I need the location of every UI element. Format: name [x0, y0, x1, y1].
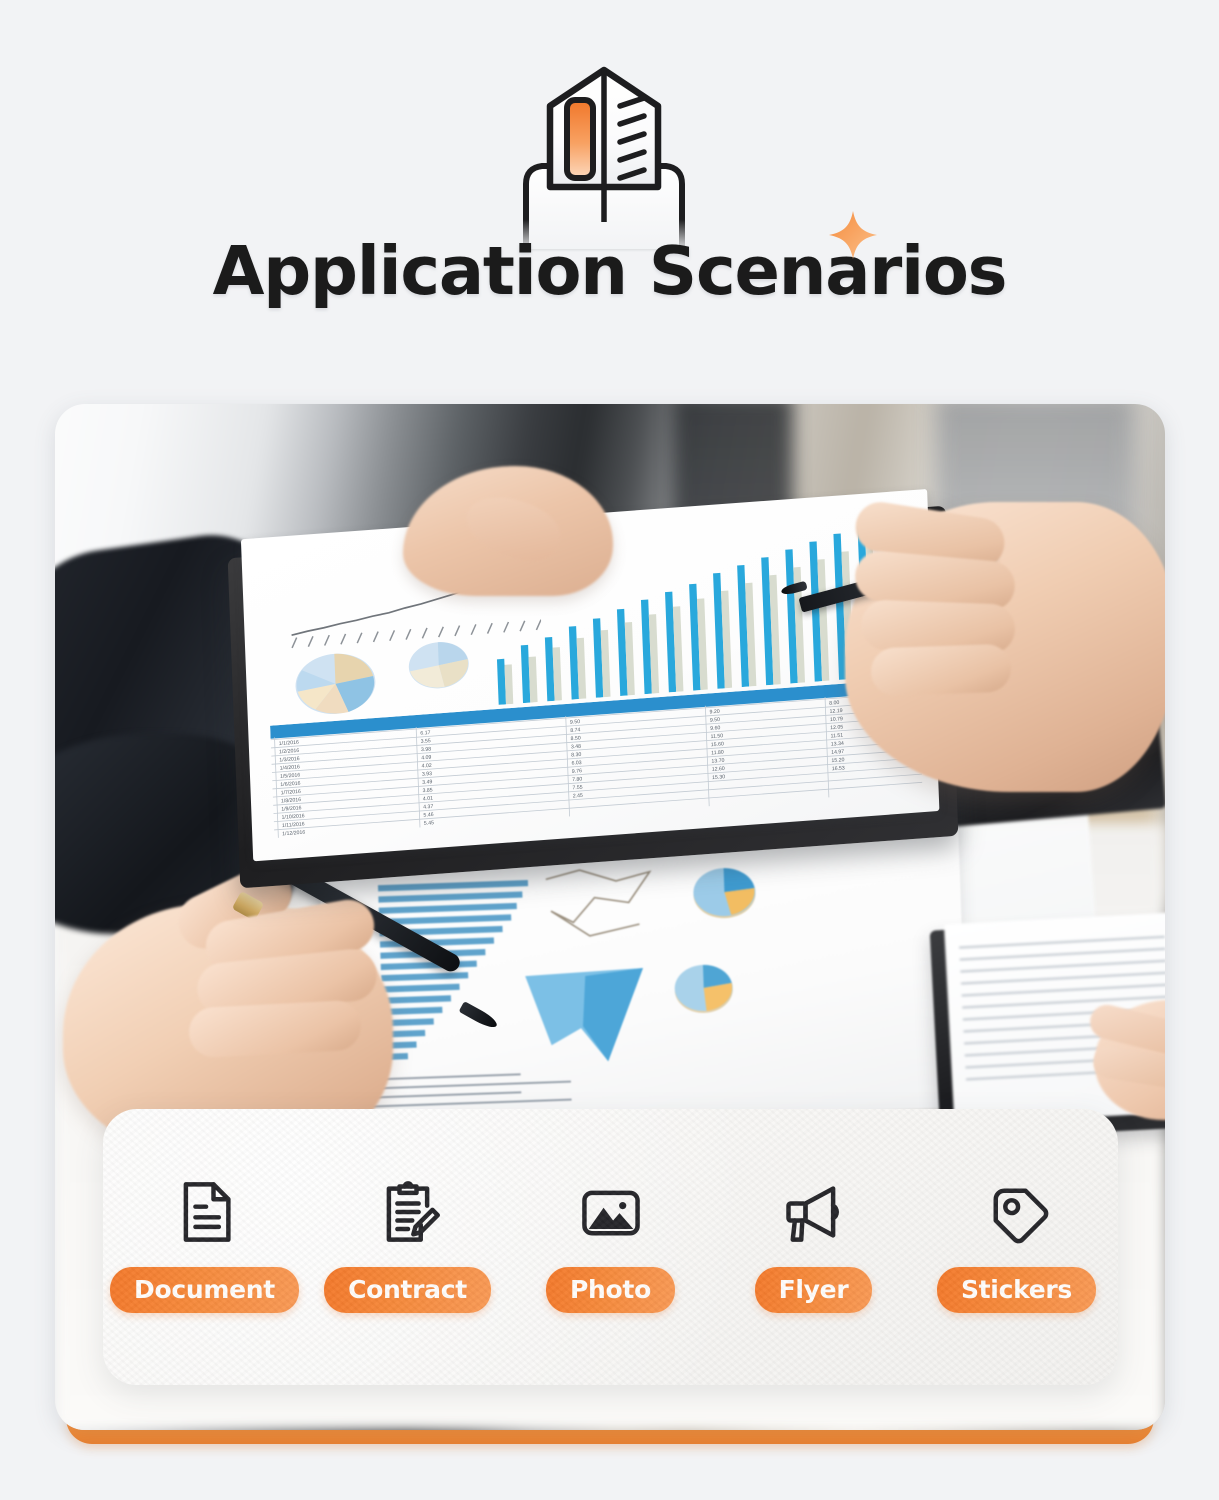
svg-text:4.09: 4.09 [421, 755, 431, 762]
svg-text:4.01: 4.01 [423, 796, 433, 803]
svg-text:6.03: 6.03 [571, 760, 581, 767]
svg-text:11.50: 11.50 [710, 733, 723, 740]
svg-text:3.98: 3.98 [421, 746, 431, 753]
scenario-tags-row: Document [103, 1171, 1118, 1313]
building-tower-icon [494, 62, 714, 257]
svg-text:9.60: 9.60 [710, 725, 720, 732]
scenario-tag-label: Document [110, 1267, 299, 1313]
svg-text:15.20: 15.20 [831, 757, 844, 764]
finger [188, 1000, 362, 1059]
svg-text:3.55: 3.55 [421, 738, 431, 745]
svg-text:8.00: 8.00 [829, 700, 839, 707]
svg-text:4.02: 4.02 [422, 763, 432, 770]
svg-text:8.50: 8.50 [571, 735, 581, 742]
megaphone-icon [780, 1171, 848, 1253]
svg-text:12.19: 12.19 [829, 708, 842, 715]
svg-text:3.85: 3.85 [422, 787, 432, 794]
desk-funnel-chart [519, 964, 652, 1068]
svg-text:11.80: 11.80 [711, 750, 724, 757]
scenario-tag-contract[interactable]: Contract [315, 1171, 501, 1313]
document-file-icon [171, 1171, 239, 1253]
svg-text:9.76: 9.76 [572, 768, 582, 775]
sparkle-star-icon [826, 208, 880, 262]
header-section: Application Scenarios [0, 0, 1219, 390]
svg-text:2.45: 2.45 [573, 793, 583, 800]
svg-text:7.80: 7.80 [572, 776, 582, 783]
svg-text:16.53: 16.53 [832, 765, 845, 772]
svg-text:3.93: 3.93 [422, 771, 432, 778]
report-pie-chart-2 [407, 639, 471, 692]
svg-text:5.46: 5.46 [423, 812, 433, 819]
report-pie-chart-1 [293, 650, 377, 718]
svg-text:8.30: 8.30 [571, 752, 581, 759]
svg-text:9.20: 9.20 [709, 709, 719, 716]
svg-text:5.45: 5.45 [424, 820, 434, 827]
desk-pie-chart-2 [671, 961, 737, 1015]
scenario-tag-label: Flyer [755, 1267, 873, 1313]
scenario-tag-document[interactable]: Document [112, 1171, 298, 1313]
svg-text:8.74: 8.74 [570, 727, 580, 734]
svg-text:11.51: 11.51 [830, 733, 843, 740]
price-tag-icon [983, 1171, 1051, 1253]
scenario-photo: 1/1/20166.179.509.208.001/2/20163.558.74… [55, 404, 1165, 1430]
page-title: Application Scenarios [213, 238, 1007, 305]
svg-text:9.50: 9.50 [710, 717, 720, 724]
svg-text:3.49: 3.49 [422, 779, 432, 786]
svg-text:15.30: 15.30 [712, 774, 725, 781]
svg-text:10.79: 10.79 [830, 716, 843, 723]
scenario-tag-label: Contract [324, 1267, 491, 1313]
desk-scatter-chart [541, 861, 664, 965]
scenario-tag-flyer[interactable]: Flyer [721, 1171, 907, 1313]
svg-text:9.50: 9.50 [570, 719, 580, 726]
scenario-tag-stickers[interactable]: Stickers [924, 1171, 1110, 1313]
clipboard-pencil-icon [374, 1171, 442, 1253]
image-picture-icon [577, 1171, 645, 1253]
svg-text:3.48: 3.48 [571, 744, 581, 751]
report-data-table: 1/1/20166.179.509.208.001/2/20163.558.74… [270, 678, 923, 844]
scenario-tags-card: Document [103, 1109, 1118, 1385]
svg-text:7.55: 7.55 [572, 785, 582, 792]
scenario-tag-label: Stickers [937, 1267, 1096, 1313]
desk-horizontal-bar-chart [378, 880, 534, 1065]
scenario-tag-label: Photo [546, 1267, 675, 1313]
page-title-row: Application Scenarios [0, 238, 1219, 305]
desk-pie-chart-1 [689, 864, 759, 920]
finger [870, 644, 1012, 697]
svg-text:6.17: 6.17 [420, 730, 430, 737]
svg-text:13.70: 13.70 [711, 758, 724, 765]
svg-text:15.60: 15.60 [711, 741, 724, 748]
svg-text:4.37: 4.37 [423, 804, 433, 811]
scenario-tag-photo[interactable]: Photo [518, 1171, 704, 1313]
application-scenarios-page: Application Scenarios [0, 0, 1219, 1500]
svg-text:12.05: 12.05 [830, 724, 843, 731]
svg-text:14.97: 14.97 [831, 749, 844, 756]
svg-text:13.34: 13.34 [831, 741, 844, 748]
svg-text:1/12/2016: 1/12/2016 [282, 830, 305, 838]
svg-text:12.60: 12.60 [712, 766, 725, 773]
